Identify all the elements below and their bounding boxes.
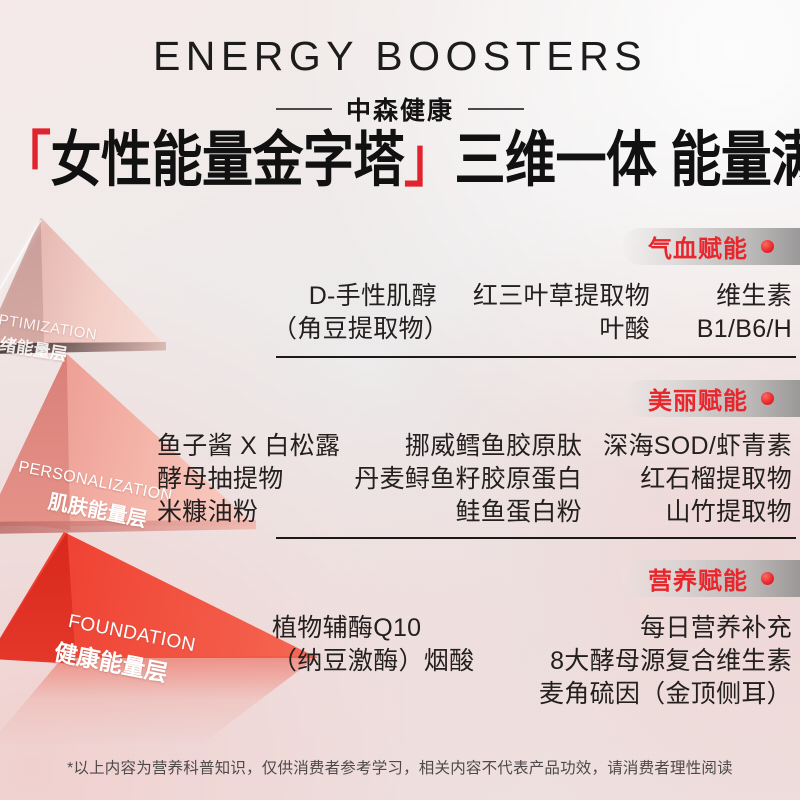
ingredient-row: （纳豆激酶）烟酸 8大酵母源复合维生素 [272,645,792,678]
ingredient-row: D-手性肌醇 红三叶草提取物 维生素 [272,280,792,313]
ingredient-row: 米糠油粉 鲑鱼蛋白粉 山竹提取物 [157,496,792,529]
ingredient-item: 叶酸 [599,313,650,346]
ingredient-item: D-手性肌醇 [309,280,437,313]
ingredient-item: 鲑鱼蛋白粉 [455,496,582,529]
section-badge-yingyang: 营养赋能 [622,560,800,597]
ingredient-item: B1/B6/H [680,313,792,346]
pyramid-tier-bottom-side [0,532,76,664]
disclaimer-text: *以上内容为营养科普知识，仅供消费者参考学习，相关内容不代表产品功效，请消费者理… [0,756,800,778]
red-dot-icon [761,572,774,585]
ingredient-list-qixue: D-手性肌醇 红三叶草提取物 维生素 （角豆提取物） 叶酸 B1/B6/H [272,280,792,346]
ingredient-row: （角豆提取物） 叶酸 B1/B6/H [272,313,792,346]
poster-header: ENERGY BOOSTERS 中森健康 [0,36,800,127]
ingredient-item: 山竹提取物 [594,496,792,529]
ingredient-item: 米糠油粉 [157,496,258,529]
red-dot-icon [761,240,774,253]
ingredient-item: 8大酵母源复合维生素 [502,645,792,678]
brand-subtitle-row: 中森健康 [0,91,800,127]
poster-root: ENERGY BOOSTERS 中森健康 「女性能量金字塔」三维一体 能量满格 … [0,0,800,800]
ingredient-item: 植物辅酶Q10 [272,612,421,645]
ingredient-row: 鱼子酱 X 白松露 挪威鳕鱼胶原肽 深海SOD/虾青素 [157,430,792,463]
ingredient-row: 麦角硫因（金顶侧耳） [272,678,792,711]
headline-main: 女性能量金字塔 [51,126,405,193]
ingredient-item: 挪威鳕鱼胶原肽 [405,430,582,463]
section-divider-1 [276,356,796,358]
ingredient-item: 酵母抽提物 [157,463,284,496]
ingredient-item: 深海SOD/虾青素 [594,430,792,463]
ingredient-item: 红石榴提取物 [594,463,792,496]
section-badge-qixue-label: 气血赋能 [648,229,748,264]
ingredient-list-yingyang: 植物辅酶Q10 每日营养补充 （纳豆激酶）烟酸 8大酵母源复合维生素 麦角硫因（… [272,612,792,711]
ingredient-item: （纳豆激酶）烟酸 [272,645,474,678]
ingredient-item: 维生素 [680,280,792,313]
section-divider-2 [276,537,796,539]
ingredient-item: 丹麦鲟鱼籽胶原蛋白 [354,463,582,496]
headline-rest: 三维一体 能量满格 [455,126,800,193]
pyramid-tier-top-base [0,342,166,354]
pyramid-tier-top-side [0,218,44,346]
section-badge-meili-label: 美丽赋能 [648,381,748,416]
section-badge-yingyang-label: 营养赋能 [648,561,748,596]
pyramid-tier-middle-side [0,354,70,530]
brand-title-en: ENERGY BOOSTERS [0,36,800,77]
ingredient-row: 酵母抽提物 丹麦鲟鱼籽胶原蛋白 红石榴提取物 [157,463,792,496]
dash-right-icon [468,108,524,110]
headline-open-bracket: 「 [0,126,51,193]
section-badge-meili: 美丽赋能 [622,380,800,417]
ingredient-item: 每日营养补充 [530,612,792,645]
section-badge-qixue: 气血赋能 [622,228,800,265]
ingredient-item: （角豆提取物） [272,313,449,346]
pyramid-reflection [0,656,318,746]
ingredient-item: 麦角硫因（金顶侧耳） [492,678,792,711]
red-dot-icon [761,392,774,405]
brand-title-cn: 中森健康 [346,91,454,127]
dash-left-icon [276,108,332,110]
ingredient-item: 红三叶草提取物 [473,280,650,313]
ingredient-row: 植物辅酶Q10 每日营养补充 [272,612,792,645]
ingredient-item: 鱼子酱 X 白松露 [157,430,340,463]
ingredient-list-meili: 鱼子酱 X 白松露 挪威鳕鱼胶原肽 深海SOD/虾青素 酵母抽提物 丹麦鲟鱼籽胶… [157,430,792,529]
headline-close-bracket: 」 [404,126,455,193]
page-headline: 「女性能量金字塔」三维一体 能量满格 [0,126,800,193]
